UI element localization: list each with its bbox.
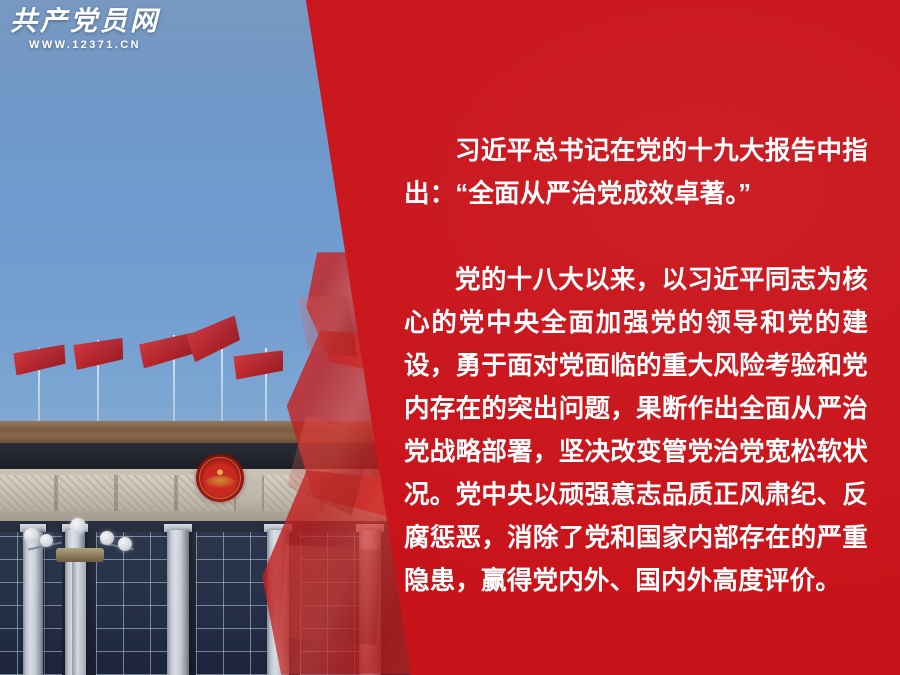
logo-url: WWW.12371.CN <box>10 39 160 51</box>
lamp-post <box>72 560 86 675</box>
frieze-panel-3 <box>116 475 176 511</box>
paragraph-2: 党的十八大以来，以习近平同志为核心的党中央全面加强党的领导和党的建设，勇于面对党… <box>404 259 868 603</box>
article-copy: 习近平总书记在党的十九大报告中指出：“全面从严治党成效卓著。” 党的十八大以来，… <box>404 104 868 628</box>
poster-canvas: 共产党员网 WWW.12371.CN 习近平总书记在党的十九大报告中指出：“全面… <box>0 0 900 675</box>
window-bay-3 <box>196 532 272 675</box>
lamp-globe-3 <box>70 518 86 534</box>
site-logo[interactable]: 共产党员网 WWW.12371.CN <box>10 8 160 51</box>
frieze-panel-1 <box>0 475 56 511</box>
column-3 <box>167 530 189 675</box>
frieze-panel-2 <box>56 475 116 511</box>
lamp-hub <box>56 548 104 562</box>
paragraph-1: 习近平总书记在党的十九大报告中指出：“全面从严治党成效卓著。” <box>404 130 868 216</box>
draped-flag-fold-3 <box>271 535 392 656</box>
lamp-globe-4 <box>100 531 114 545</box>
lamp-globe-1 <box>24 528 39 543</box>
column-1 <box>23 530 43 675</box>
logo-wordmark: 共产党员网 <box>10 8 160 36</box>
window-bay-2 <box>96 532 168 675</box>
lamp-globe-5 <box>118 537 132 551</box>
lamp-globe-2 <box>40 534 53 547</box>
national-emblem-icon <box>196 454 244 502</box>
